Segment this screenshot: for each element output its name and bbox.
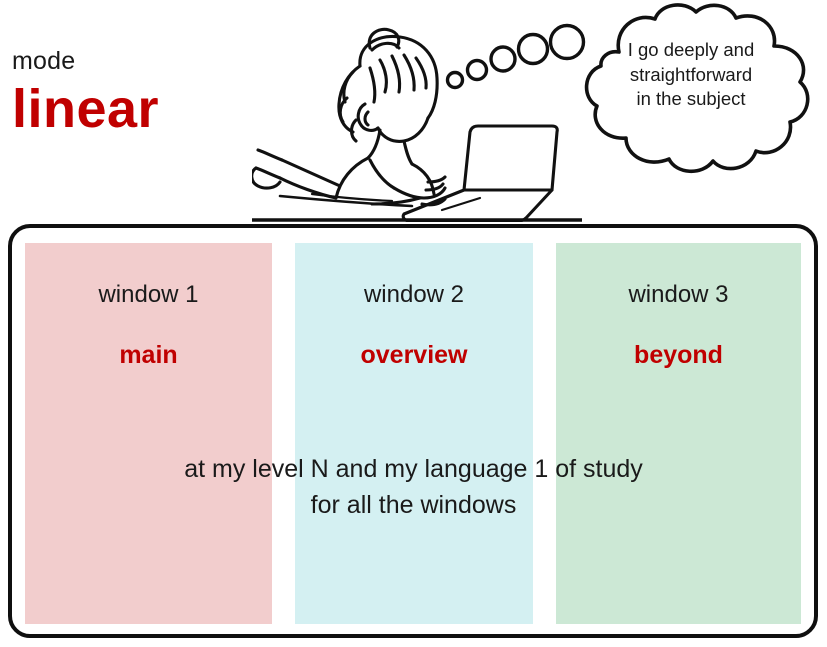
- thought-bubble-line-1: I go deeply and: [596, 38, 786, 63]
- window-column-3[interactable]: window 3 beyond: [556, 243, 801, 624]
- window-1-title: window 1: [25, 281, 272, 309]
- thought-bubble-line-2: straightforward: [596, 63, 786, 88]
- window-1-role: main: [25, 341, 272, 370]
- window-2-role: overview: [295, 341, 533, 370]
- mode-label: mode: [12, 47, 75, 76]
- header: mode linear: [0, 0, 827, 222]
- thought-bubble-text: I go deeply and straightforward in the s…: [596, 38, 786, 112]
- window-3-title: window 3: [556, 281, 801, 309]
- window-3-role: beyond: [556, 341, 801, 370]
- thought-bubble-line-3: in the subject: [596, 87, 786, 112]
- window-2-title: window 2: [295, 281, 533, 309]
- window-column-1[interactable]: window 1 main: [25, 243, 272, 624]
- window-column-2[interactable]: window 2 overview: [295, 243, 533, 624]
- mode-value: linear: [12, 82, 159, 136]
